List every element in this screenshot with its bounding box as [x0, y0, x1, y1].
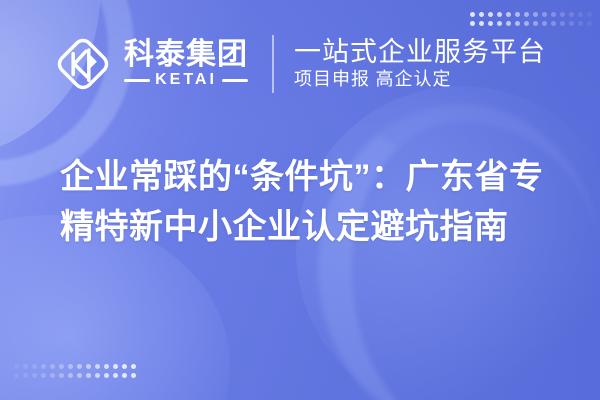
decor-dot — [59, 364, 64, 369]
promo-banner: 科泰集团 KETAI 一站式企业服务平台 项目申报 高企认定 企业常踩的“条件坑… — [0, 0, 600, 400]
brand-name-cn: 科泰集团 — [124, 40, 248, 70]
decor-arc-center-right — [318, 104, 600, 400]
decor-dot — [122, 364, 127, 369]
tagline-primary: 一站式企业服务平台 — [294, 38, 546, 66]
decor-dot — [113, 373, 118, 378]
decor-dot-row — [14, 364, 136, 369]
decor-dot — [32, 364, 37, 369]
decor-dot — [122, 373, 127, 378]
title-line-1: 企业常踩的“条件坑”：广东省专 — [60, 152, 560, 202]
decor-dot — [14, 364, 19, 369]
decor-dot — [95, 373, 100, 378]
decor-dot — [86, 373, 91, 378]
decor-dot — [77, 364, 82, 369]
decor-dot — [77, 373, 82, 378]
brand-name-en: KETAI — [155, 72, 217, 88]
decor-dot — [50, 364, 55, 369]
decor-dot — [113, 364, 118, 369]
decor-dot — [14, 373, 19, 378]
decor-dot — [23, 364, 28, 369]
tagline-block: 一站式企业服务平台 项目申报 高企认定 — [294, 38, 546, 90]
banner-header: 科泰集团 KETAI 一站式企业服务平台 项目申报 高企认定 — [0, 0, 600, 128]
tagline-secondary: 项目申报 高企认定 — [294, 70, 546, 90]
decor-dot — [41, 373, 46, 378]
decor-dot — [68, 373, 73, 378]
decor-dot — [131, 364, 136, 369]
banner-title: 企业常踩的“条件坑”：广东省专 精特新中小企业认定避坑指南 — [60, 152, 560, 252]
decor-dot — [131, 373, 136, 378]
wordmark-dash-left — [124, 79, 150, 82]
decor-dot — [95, 364, 100, 369]
decor-dot — [41, 364, 46, 369]
ketai-diamond-monogram-icon — [54, 35, 112, 93]
decor-dot — [59, 373, 64, 378]
decor-dot — [104, 364, 109, 369]
header-divider — [272, 35, 274, 93]
decor-dot — [86, 364, 91, 369]
brand-wordmark: 科泰集团 KETAI — [124, 40, 248, 88]
title-line-2: 精特新中小企业认定避坑指南 — [60, 202, 560, 252]
decor-dot — [23, 373, 28, 378]
wordmark-dash-right — [222, 79, 248, 82]
decor-dot — [32, 373, 37, 378]
brand-lockup[interactable]: 科泰集团 KETAI — [54, 35, 248, 93]
decor-dot — [50, 373, 55, 378]
decor-dot-row — [14, 373, 136, 378]
decor-dot — [68, 364, 73, 369]
brand-name-en-row: KETAI — [124, 72, 248, 88]
decor-dot — [104, 373, 109, 378]
decor-dot-grid-bottom-left — [14, 364, 136, 378]
